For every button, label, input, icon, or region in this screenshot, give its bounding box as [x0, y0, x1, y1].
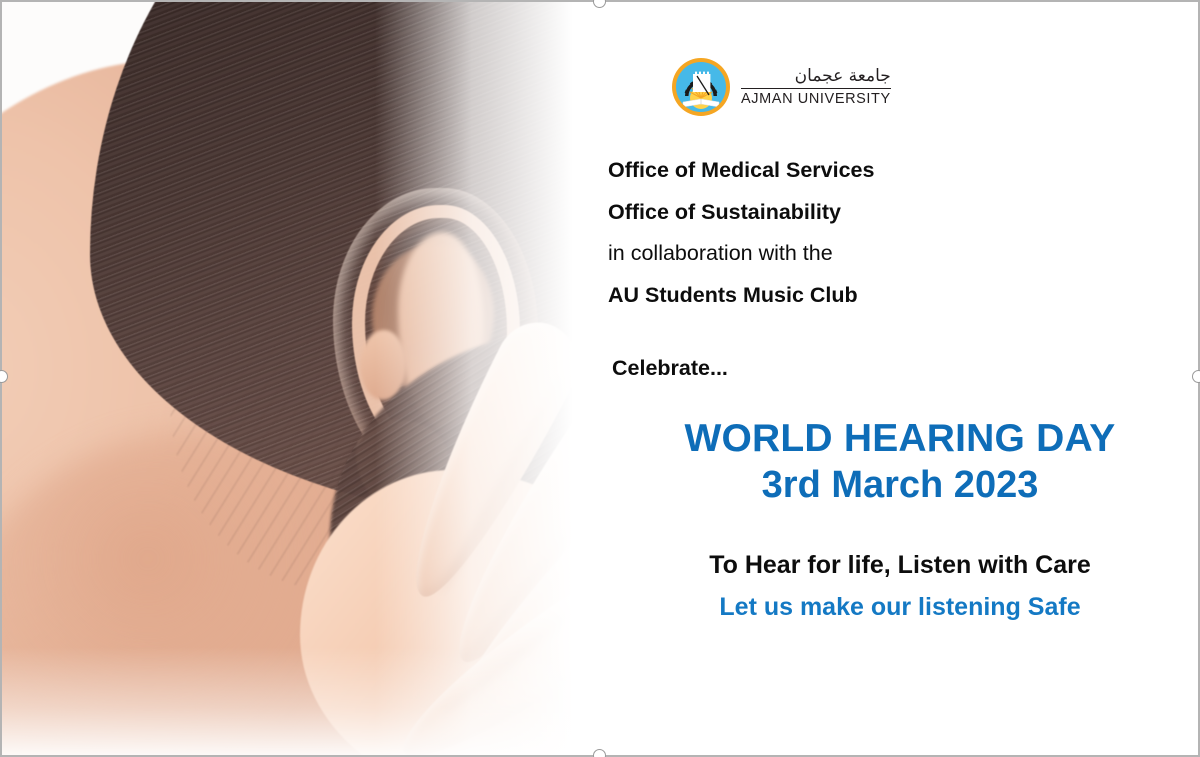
- event-headline: WORLD HEARING DAY 3rd March 2023: [600, 418, 1200, 506]
- resize-handle-right-middle[interactable]: [1192, 370, 1200, 383]
- logo-emblem-icon: [672, 58, 730, 116]
- ajman-university-logo: جامعة عجمان AJMAN UNIVERSITY: [672, 58, 891, 116]
- presentation-slide[interactable]: جامعة عجمان AJMAN UNIVERSITY Office of M…: [0, 0, 1200, 757]
- logo-wordmark: جامعة عجمان AJMAN UNIVERSITY: [741, 68, 891, 107]
- celebrate-label: Celebrate...: [612, 356, 728, 381]
- headline-date: 3rd March 2023: [600, 465, 1200, 505]
- logo-divider-rule: [741, 88, 891, 89]
- logo-arabic-name: جامعة عجمان: [741, 68, 891, 85]
- tagline-line-1: To Hear for life, Listen with Care: [600, 552, 1200, 580]
- event-tagline: To Hear for life, Listen with Care Let u…: [600, 552, 1200, 621]
- fort-tower-icon: [693, 72, 710, 95]
- photo-right-fade: [375, 0, 605, 757]
- headline-title: WORLD HEARING DAY: [600, 418, 1200, 459]
- organizer-line-3: in collaboration with the: [608, 243, 1168, 265]
- organizer-line-4: AU Students Music Club: [608, 285, 1168, 307]
- organizer-line-2: Office of Sustainability: [608, 202, 1168, 224]
- photo-bottom-fade: [0, 647, 605, 757]
- resize-handle-bottom-center[interactable]: [593, 749, 606, 757]
- slide-content-column: جامعة عجمان AJMAN UNIVERSITY Office of M…: [600, 0, 1200, 757]
- logo-english-name: AJMAN UNIVERSITY: [741, 92, 891, 107]
- logo-emblem-field: [676, 62, 726, 112]
- tagline-line-2: Let us make our listening Safe: [600, 594, 1200, 622]
- organizer-block: Office of Medical Services Office of Sus…: [608, 160, 1168, 326]
- ear-listening-photo: [0, 0, 605, 757]
- organizer-line-1: Office of Medical Services: [608, 160, 1168, 182]
